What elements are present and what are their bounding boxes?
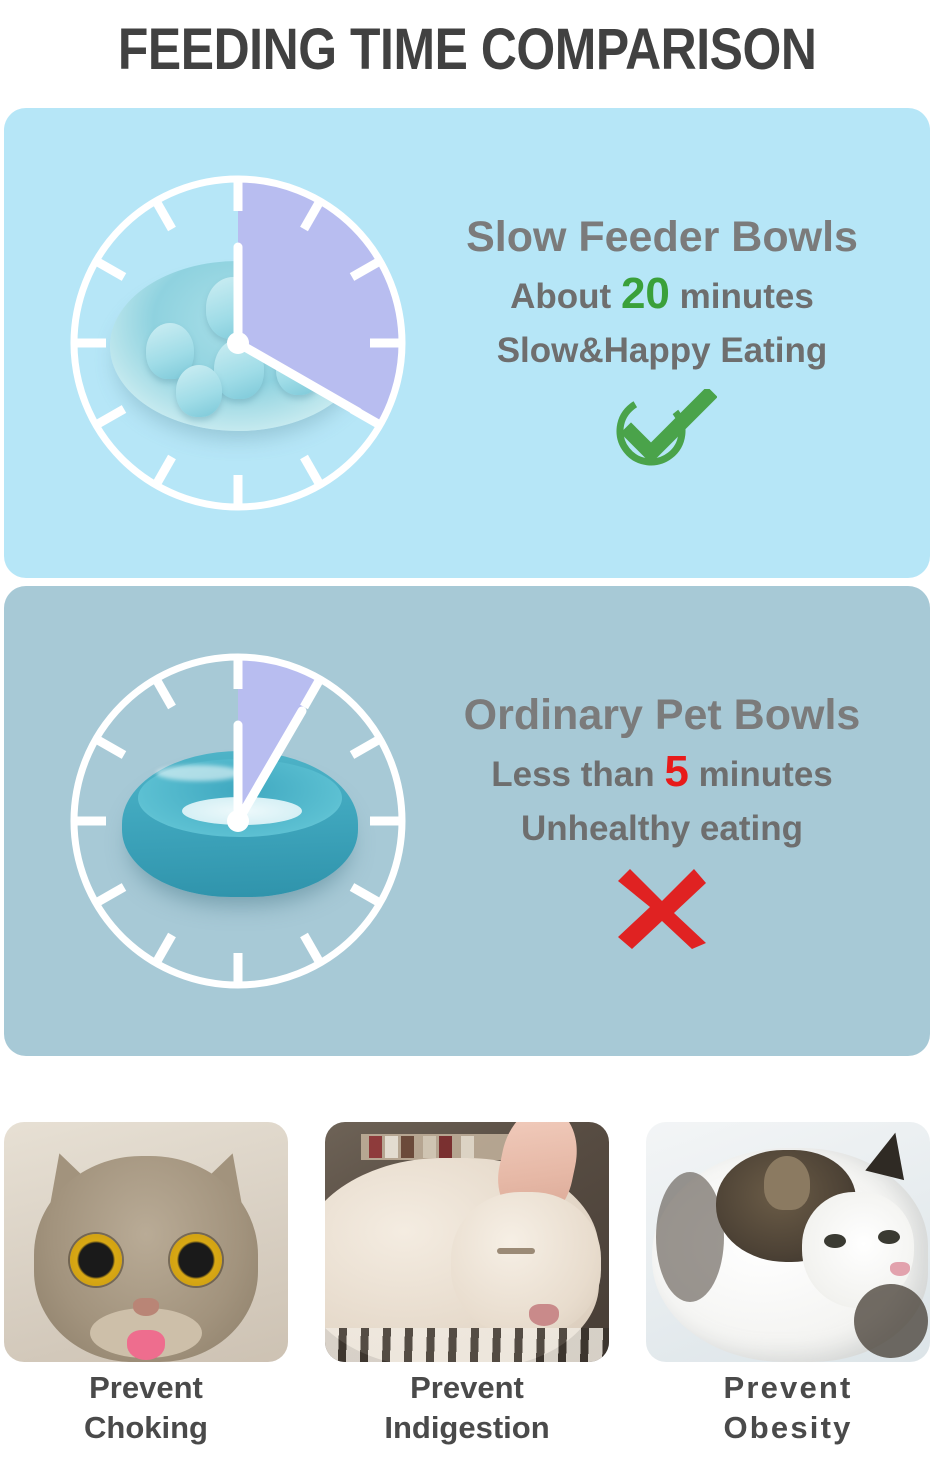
ordinary-bowl-time-line: Less than 5 minutes bbox=[491, 740, 833, 804]
clock-slow-feeder bbox=[60, 165, 416, 521]
caption-obesity: Prevent Obesity bbox=[646, 1368, 930, 1461]
caption-indigestion-line2: Indigestion bbox=[325, 1408, 609, 1448]
comparison-panel-ordinary-bowl: Ordinary Pet Bowls Less than 5 minutes U… bbox=[4, 586, 930, 1056]
comparison-panel-slow-feeder: Slow Feeder Bowls About 20 minutes Slow&… bbox=[4, 108, 930, 578]
check-mark-icon bbox=[607, 389, 717, 467]
slow-feeder-time-line: About 20 minutes bbox=[510, 262, 814, 326]
slow-feeder-time-prefix: About bbox=[510, 277, 611, 316]
clock-face-slow bbox=[60, 165, 416, 521]
ordinary-bowl-tagline: Unhealthy eating bbox=[521, 804, 803, 855]
clock-center-pin bbox=[227, 810, 249, 832]
slow-feeder-headline: Slow Feeder Bowls bbox=[466, 213, 858, 262]
ordinary-bowl-time-prefix: Less than bbox=[491, 755, 654, 794]
benefit-photo-row bbox=[0, 1122, 934, 1362]
slow-feeder-time-unit: minutes bbox=[680, 277, 814, 316]
caption-choking-line1: Prevent bbox=[4, 1368, 288, 1408]
ordinary-bowl-text-block: Ordinary Pet Bowls Less than 5 minutes U… bbox=[416, 691, 930, 945]
caption-obesity-line1: Prevent bbox=[646, 1368, 930, 1408]
page-header: FEEDING TIME COMPARISON bbox=[0, 0, 934, 100]
ordinary-bowl-time-value: 5 bbox=[664, 747, 688, 796]
benefit-photo-indigestion bbox=[325, 1122, 609, 1362]
clock-ordinary-bowl bbox=[60, 643, 416, 999]
clock-center-pin bbox=[227, 332, 249, 354]
cross-mark-icon bbox=[614, 863, 710, 949]
caption-obesity-line2: Obesity bbox=[646, 1408, 930, 1448]
caption-indigestion-line1: Prevent bbox=[325, 1368, 609, 1408]
benefit-caption-row: Prevent Choking Prevent Indigestion Prev… bbox=[0, 1368, 934, 1461]
slow-feeder-tagline: Slow&Happy Eating bbox=[497, 326, 828, 377]
page-title: FEEDING TIME COMPARISON bbox=[118, 21, 817, 79]
ordinary-bowl-headline: Ordinary Pet Bowls bbox=[464, 691, 861, 740]
benefit-photo-obesity bbox=[646, 1122, 930, 1362]
clock-face-ordinary bbox=[60, 643, 416, 999]
caption-indigestion: Prevent Indigestion bbox=[325, 1368, 609, 1461]
caption-choking-line2: Choking bbox=[4, 1408, 288, 1448]
slow-feeder-text-block: Slow Feeder Bowls About 20 minutes Slow&… bbox=[416, 213, 930, 467]
ordinary-bowl-time-unit: minutes bbox=[699, 755, 833, 794]
slow-feeder-time-value: 20 bbox=[621, 269, 670, 318]
caption-choking: Prevent Choking bbox=[4, 1368, 288, 1461]
benefit-photo-choking bbox=[4, 1122, 288, 1362]
